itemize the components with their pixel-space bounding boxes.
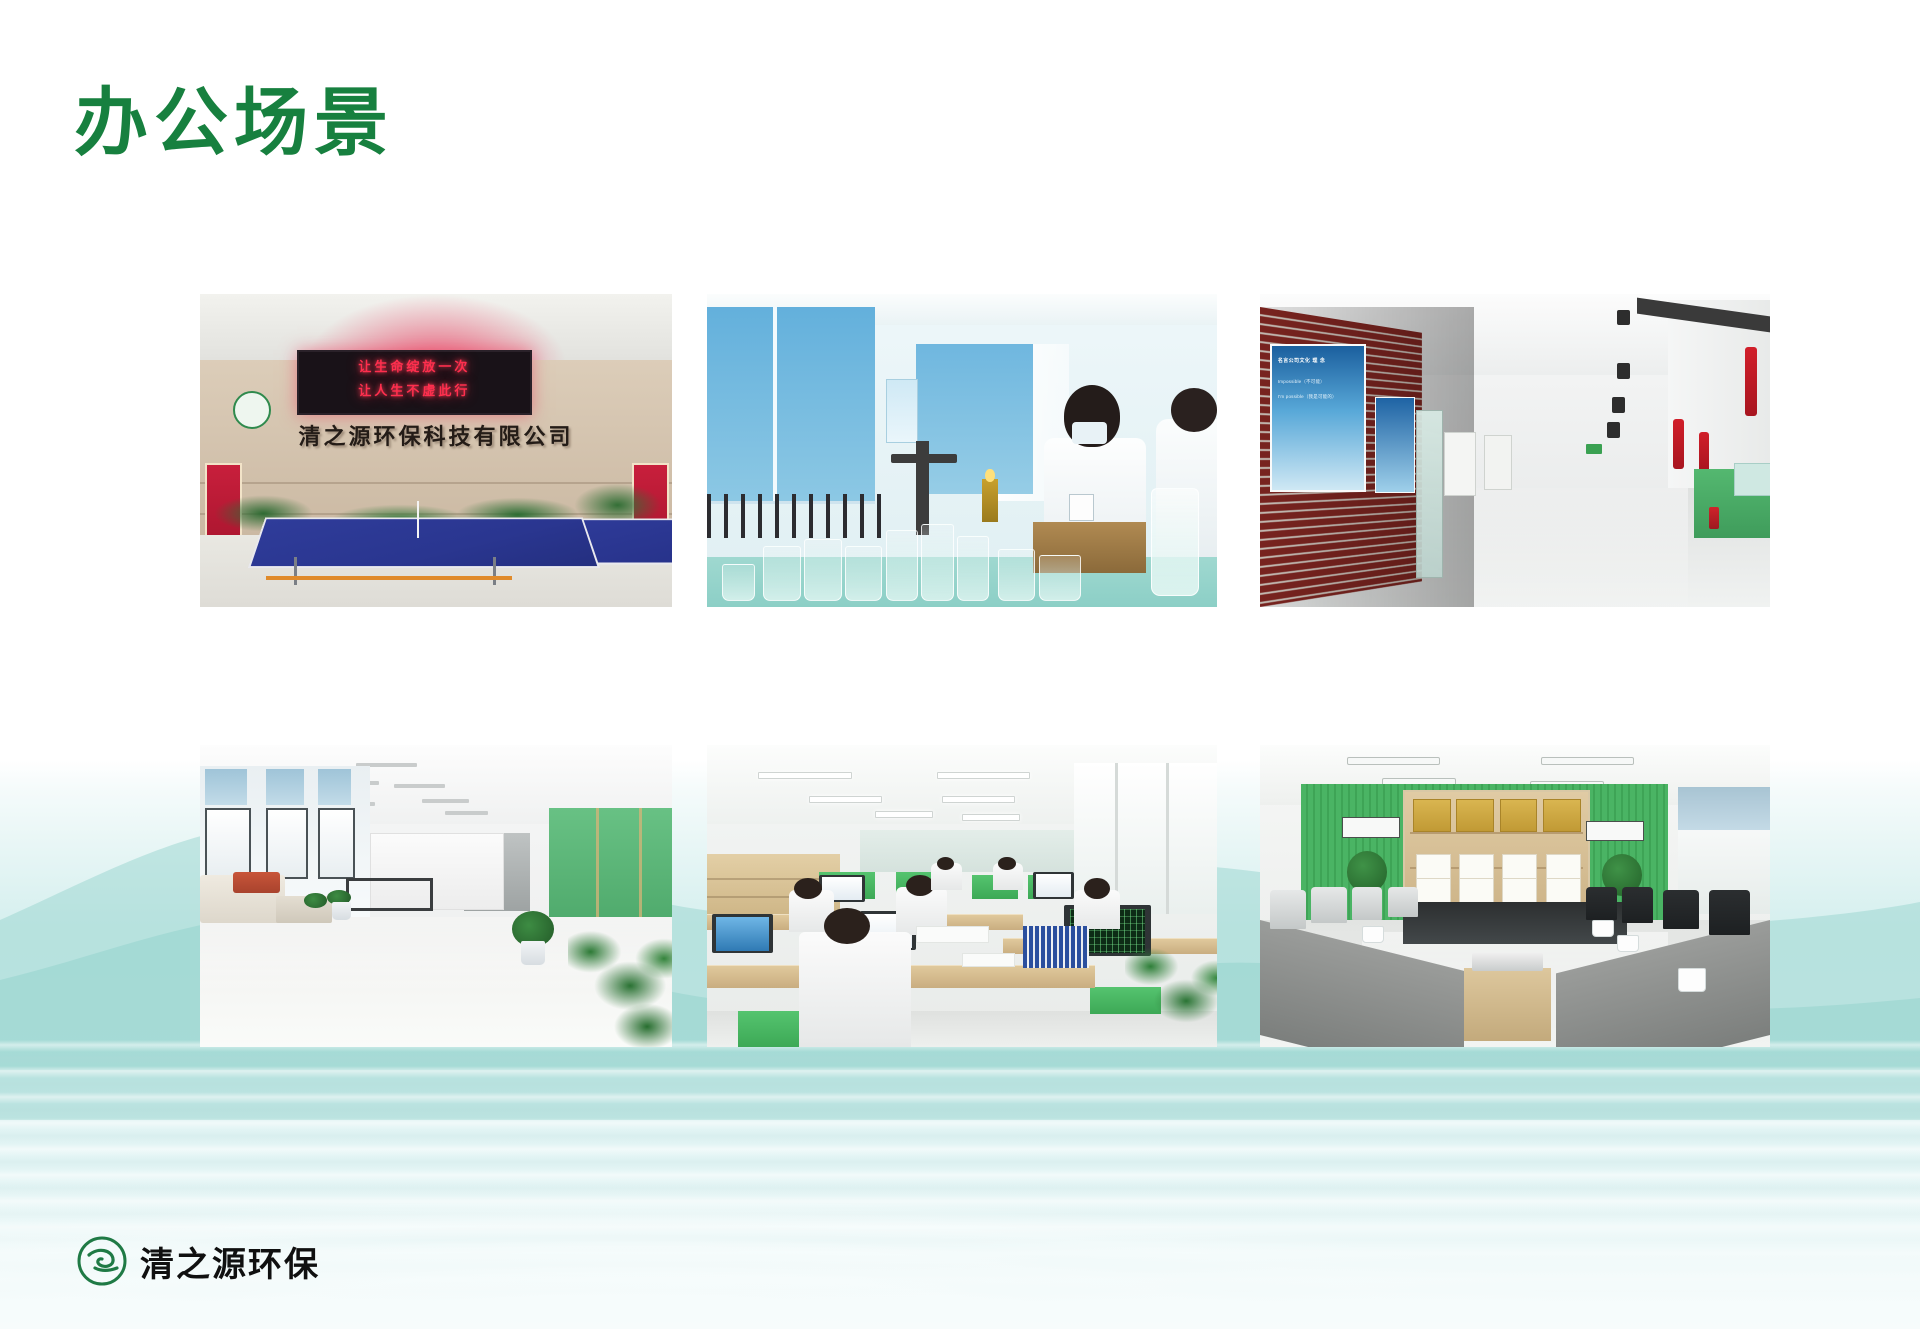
tea-cup (1362, 926, 1384, 943)
page-title: 办公场景 (74, 86, 394, 160)
plant-pot (521, 941, 545, 965)
window-blind (1678, 787, 1770, 829)
honor-plaque (1413, 799, 1451, 831)
certificate (1502, 878, 1537, 904)
id-badge (1069, 494, 1094, 521)
table-leg (294, 557, 297, 585)
footer-brand-logo: 清之源环保 (76, 1235, 320, 1287)
ceiling-speaker-icon (1612, 397, 1625, 413)
chinese-knot-decoration (1699, 432, 1709, 473)
wall-company-name: 清之源环保科技有限公司 (266, 419, 606, 451)
honor-plaque (1500, 799, 1538, 831)
employee-head (906, 875, 934, 896)
ceiling-tube-light (875, 811, 933, 818)
ping-pong-net (417, 501, 419, 539)
photo-lobby-with-led-banner: 让生命绽放一次 让人生不虚此行 清之源环保科技有限公司 (200, 294, 672, 607)
ceiling-speaker-icon (1617, 363, 1630, 379)
volumetric-flask (886, 530, 919, 601)
tea-cup (1592, 920, 1614, 937)
certificate (1416, 878, 1451, 904)
table-under-rail (266, 576, 511, 580)
monitor-screen (716, 917, 769, 951)
certificate (1459, 854, 1494, 880)
ceiling-light-panel (422, 799, 469, 803)
ceiling-tube-light (1541, 757, 1635, 765)
employee-head (1084, 878, 1110, 899)
meeting-chair (1388, 887, 1419, 917)
glass-office-door (1416, 410, 1444, 578)
window-blind (205, 769, 247, 805)
framed-certificates-right (1586, 821, 1644, 841)
notice-board (1484, 435, 1512, 490)
meeting-chair (1622, 887, 1653, 923)
reception-counter (1734, 463, 1770, 496)
ping-pong-table (248, 518, 601, 569)
meeting-chair (1586, 887, 1617, 920)
certificate (1502, 854, 1537, 880)
reagent-jar (998, 549, 1036, 601)
honor-plaque (1543, 799, 1581, 831)
meeting-chair (1270, 890, 1306, 929)
motivational-poster-small (1375, 397, 1415, 493)
photo-brick-wall-corridor: 名言公司文化 理 念 Impossible（不可能） I'm possible（… (1260, 294, 1770, 607)
ceiling-light-panel (394, 784, 446, 788)
window-blind (266, 769, 304, 805)
erlenmeyer-flask (804, 539, 842, 600)
metal-frame-rack (346, 878, 432, 911)
paper-stack (962, 953, 1015, 967)
window-blind-right (916, 344, 1033, 494)
retort-stand-clamp (891, 454, 957, 463)
chinese-knot-decoration (1673, 419, 1684, 469)
meeting-chair (1352, 887, 1383, 920)
projector-podium (1464, 968, 1551, 1040)
volumetric-flask (921, 524, 954, 601)
paper-stack (916, 926, 989, 943)
window-blind (318, 769, 351, 805)
face-mask (1072, 422, 1108, 444)
tea-cup (1678, 968, 1706, 991)
bunsen-burner (982, 479, 997, 523)
chinese-knot-decoration (1745, 347, 1757, 416)
sofa-red-cushion (233, 872, 280, 893)
motivational-poster-large (1270, 344, 1366, 492)
beaker (722, 564, 755, 600)
window (205, 808, 251, 878)
erlenmeyer-flask (845, 546, 883, 601)
water-ripple-rings (0, 1075, 1920, 1329)
employee-head-distant (998, 857, 1016, 871)
photo-bright-hallway-lounge (200, 745, 672, 1047)
ceiling-tube-light (1347, 757, 1441, 765)
computer-monitor (712, 914, 773, 953)
ceiling-tube-light (942, 796, 1015, 803)
led-text-line-2: 让人生不虚此行 (315, 385, 514, 407)
led-display-board: 让生命绽放一次 让人生不虚此行 (297, 350, 532, 415)
balcony-railing (707, 494, 886, 538)
monitor-screen (1036, 874, 1071, 897)
honor-plaque (1456, 799, 1494, 831)
computer-monitor (1033, 872, 1074, 899)
footer-brand-name: 清之源环保 (140, 1237, 320, 1286)
plastic-water-bottle (1151, 488, 1199, 596)
employee-body-foreground (799, 932, 911, 1047)
meeting-chair (1709, 890, 1750, 935)
notice-board (1444, 432, 1477, 497)
ceiling-tube-light (962, 814, 1020, 821)
reagent-jar (1039, 555, 1082, 601)
certificate (1546, 854, 1581, 880)
lab-technician-head-second (1171, 388, 1217, 432)
ceiling-tube-light (937, 772, 1031, 779)
certificate (1416, 854, 1451, 880)
document-binders (1023, 926, 1089, 968)
window (318, 808, 355, 878)
table-leg (493, 557, 496, 585)
window (266, 808, 308, 878)
window-mullion (1166, 763, 1169, 914)
certificate (1459, 878, 1494, 904)
employee-head (794, 878, 822, 899)
large-foliage-plant (568, 911, 672, 1047)
office-plant (1125, 932, 1217, 1047)
certificate (1546, 878, 1581, 904)
fire-extinguisher-icon (1709, 507, 1719, 529)
glass-divider-wall (860, 830, 1074, 872)
photo-open-plan-office (707, 745, 1217, 1047)
poster-line-2: I'm possible（我是可能的） (1278, 394, 1355, 400)
framed-certificates-left (1342, 817, 1400, 837)
blind-seam (773, 307, 777, 501)
exit-sign-icon (1586, 444, 1601, 453)
water-cooler-bottle (332, 902, 351, 920)
ceiling-tube-light (809, 796, 882, 803)
burner-flame (985, 469, 994, 482)
ceiling-light-panel (445, 811, 487, 815)
ceiling-tube-light (758, 772, 852, 779)
ceiling-speaker-icon (1617, 310, 1630, 326)
photo-meeting-room-with-awards (1260, 745, 1770, 1047)
company-emblem-icon (76, 1235, 128, 1287)
erlenmeyer-flask (763, 546, 801, 601)
meeting-chair (1663, 890, 1699, 929)
led-text-line-1: 让生命绽放一次 (315, 361, 514, 383)
wall-notice-poster (886, 379, 919, 444)
slide-page: 办公场景 让生命绽放一次 让人生不虚此行 清之源环保科技有限公司 (0, 0, 1920, 1329)
tea-cup (1617, 935, 1639, 952)
projector (1472, 953, 1543, 971)
poster-line-1: Impossible（不可能） (1278, 379, 1355, 385)
poster-title-text: 名言公司文化 理 念 (1278, 357, 1355, 364)
ceiling-speaker-icon (1607, 422, 1620, 438)
photo-laboratory-glassware (707, 294, 1217, 607)
window-blind-left (707, 307, 875, 504)
volumetric-flask (957, 536, 990, 601)
meeting-chair (1311, 887, 1347, 923)
